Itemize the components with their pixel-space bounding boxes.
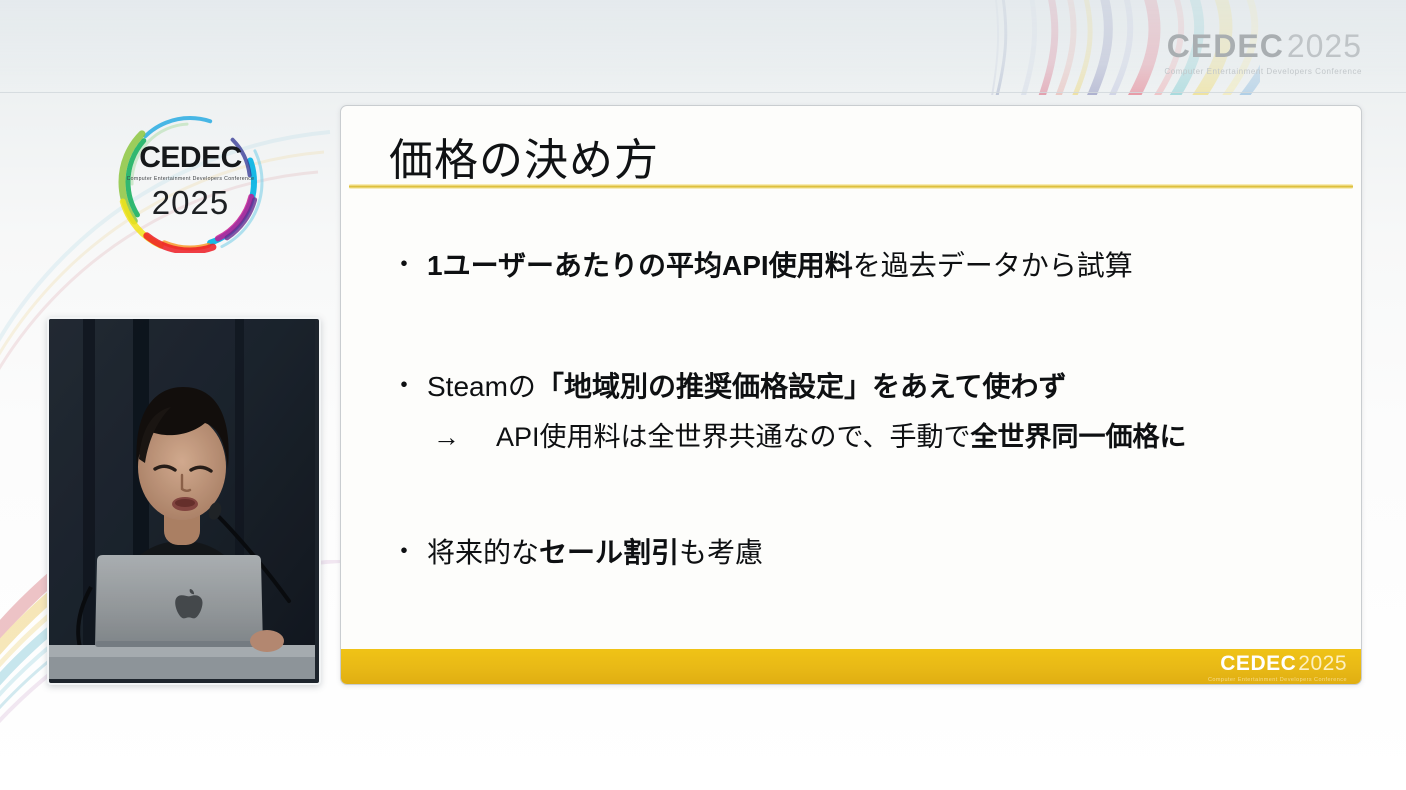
watermark-logo-row: CEDEC 2025: [1164, 28, 1362, 65]
slide-footer-bar: CEDEC 2025 Computer Entertainment Develo…: [341, 649, 1361, 684]
footer-brand-name: CEDEC: [1220, 652, 1296, 676]
ring-logo-text: CEDEC Computer Entertainment Developers …: [108, 108, 273, 253]
sub-bullet-arrow-icon: →: [433, 421, 469, 455]
cedec-watermark-logo: CEDEC 2025 Computer Entertainment Develo…: [1164, 28, 1362, 76]
bullet-text-plain: Steamの: [427, 371, 536, 402]
watermark-tagline: Computer Entertainment Developers Confer…: [1164, 67, 1362, 76]
bullet-text: 将来的なセール割引も考慮: [427, 535, 763, 570]
watermark-brand-year: 2025: [1287, 28, 1362, 65]
footer-brand-year: 2025: [1298, 652, 1347, 676]
bullet-item: ・ Steamの「地域別の推奨価格設定」をあえて使わず: [391, 369, 1067, 404]
bullet-item: ・ 将来的なセール割引も考慮: [391, 535, 763, 570]
bullet-text-bold: 「地域別の推奨価格設定」をあえて使わず: [536, 371, 1067, 402]
slide-footer-logo: CEDEC 2025 Computer Entertainment Develo…: [1208, 652, 1347, 683]
bullet-marker: ・: [391, 248, 427, 281]
bullet-marker: ・: [391, 535, 427, 568]
bullet-text-plain-tail: も考慮: [679, 537, 763, 568]
bullet-text-plain: を過去データから試算: [853, 250, 1133, 281]
sub-bullet-item: → API使用料は全世界共通なので、手動で全世界同一価格に: [433, 421, 1186, 455]
bullet-text-bold: 1ユーザーあたりの平均API使用料: [427, 250, 853, 281]
presentation-slide: 価格の決め方 ・ 1ユーザーあたりの平均API使用料を過去データから試算 ・ S…: [340, 105, 1362, 685]
sub-bullet-text-plain: API使用料は全世界共通なので、手動で: [469, 422, 970, 452]
footer-logo-row: CEDEC 2025: [1208, 652, 1347, 676]
bullet-marker: ・: [391, 369, 427, 402]
ring-logo-year: 2025: [152, 186, 229, 219]
sub-bullet-text-bold: 全世界同一価格に: [970, 422, 1186, 452]
sub-bullet-text: API使用料は全世界共通なので、手動で全世界同一価格に: [469, 421, 1186, 455]
bullet-text-bold: セール割引: [539, 537, 679, 568]
watermark-brand-name: CEDEC: [1167, 28, 1284, 65]
bullet-text: 1ユーザーあたりの平均API使用料を過去データから試算: [427, 248, 1133, 283]
bullet-item: ・ 1ユーザーあたりの平均API使用料を過去データから試算: [391, 248, 1133, 283]
ring-logo-brand-name: CEDEC: [139, 143, 242, 173]
screen-stage: CEDEC 2025 Computer Entertainment Develo…: [0, 0, 1406, 790]
bullet-text: Steamの「地域別の推奨価格設定」をあえて使わず: [427, 369, 1067, 404]
slide-title: 価格の決め方: [389, 124, 659, 188]
cedec-ring-logo: CEDEC Computer Entertainment Developers …: [108, 108, 273, 253]
footer-tagline: Computer Entertainment Developers Confer…: [1208, 677, 1347, 683]
bullet-text-plain: 将来的な: [427, 537, 539, 568]
ring-logo-tagline: Computer Entertainment Developers Confer…: [127, 176, 255, 182]
presenter-video-panel: [47, 317, 321, 685]
title-underline-rule: [349, 184, 1353, 189]
